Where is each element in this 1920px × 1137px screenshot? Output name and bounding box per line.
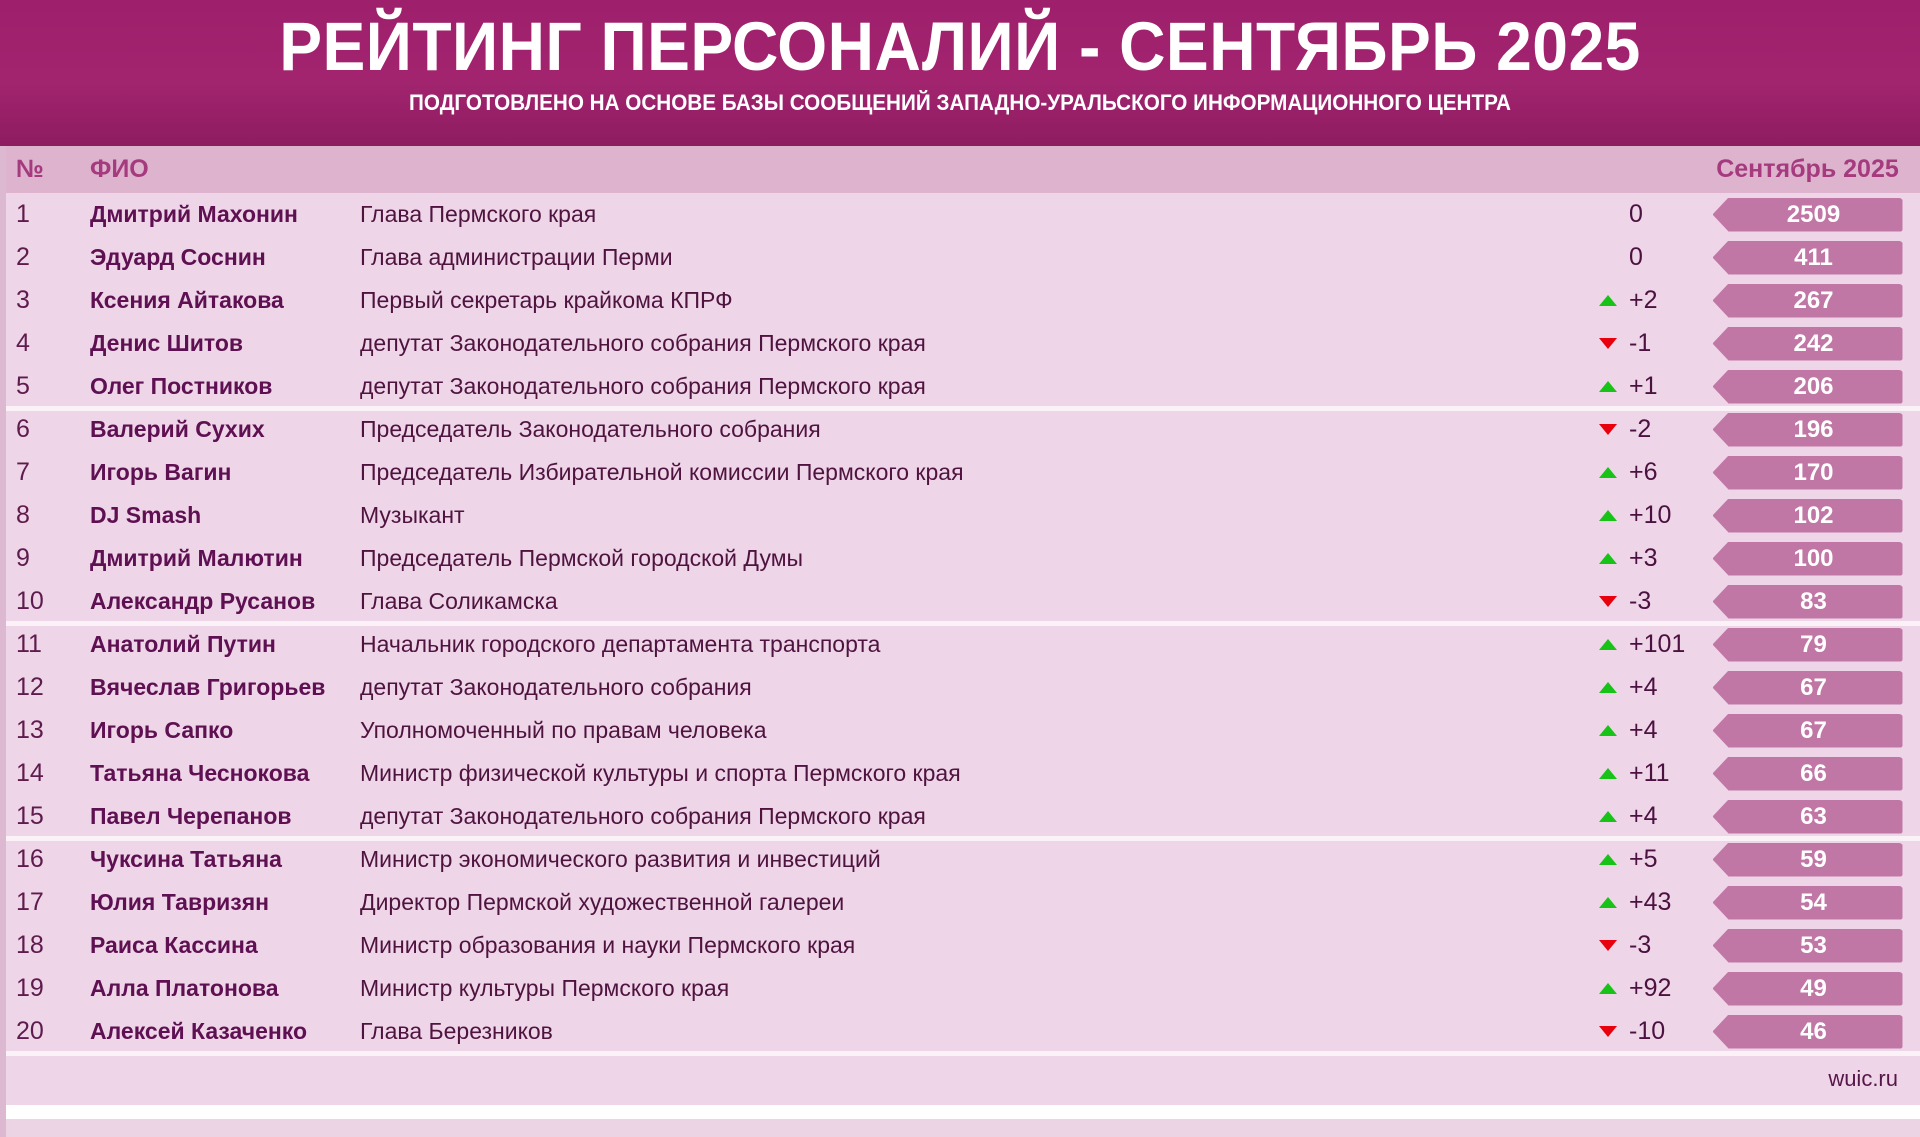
table-row: 1Дмитрий МахонинГлава Пермского края0250… [0, 193, 1920, 236]
row-change: -10 [1515, 1017, 1705, 1046]
row-change: +4 [1515, 673, 1705, 702]
row-position: Директор Пермской художественной галереи [360, 889, 1515, 916]
row-change-value: +6 [1629, 458, 1687, 487]
table-row: 6Валерий СухихПредседатель Законодательн… [0, 408, 1920, 451]
arrow-up-icon [1599, 295, 1617, 306]
row-change-value: +101 [1629, 630, 1687, 659]
table-row: 11Анатолий ПутинНачальник городского деп… [0, 623, 1920, 666]
row-rank: 4 [0, 329, 90, 358]
score-badge: 196 [1713, 413, 1903, 447]
arrow-up-icon [1599, 983, 1617, 994]
table-row: 3Ксения АйтаковаПервый секретарь крайком… [0, 279, 1920, 322]
row-position: депутат Законодательного собрания [360, 674, 1515, 701]
table-row: 15Павел Черепановдепутат Законодательног… [0, 795, 1920, 838]
row-position: Начальник городского департамента трансп… [360, 631, 1515, 658]
row-rank: 12 [0, 673, 90, 702]
row-person-name: Алла Платонова [90, 975, 360, 1002]
row-position: Первый секретарь крайкома КПРФ [360, 287, 1515, 314]
row-change-value: 0 [1629, 200, 1687, 229]
row-change: +10 [1515, 501, 1705, 530]
row-score-cell: 53 [1705, 929, 1920, 963]
row-score-cell: 59 [1705, 843, 1920, 877]
arrow-up-icon [1599, 854, 1617, 865]
row-score-cell: 411 [1705, 241, 1920, 275]
row-change-value: -2 [1629, 415, 1687, 444]
arrow-down-icon [1599, 596, 1617, 607]
score-badge: 411 [1713, 241, 1903, 275]
row-rank: 20 [0, 1017, 90, 1046]
row-score-cell: 267 [1705, 284, 1920, 318]
arrow-down-icon [1599, 424, 1617, 435]
row-change: +6 [1515, 458, 1705, 487]
row-change: +43 [1515, 888, 1705, 917]
table-row: 10Александр РусановГлава Соликамска-383 [0, 580, 1920, 623]
table-row: 17Юлия ТавризянДиректор Пермской художес… [0, 881, 1920, 924]
bottom-strip [0, 1105, 1920, 1119]
row-change-value: +11 [1629, 759, 1687, 788]
table-row: 7Игорь ВагинПредседатель Избирательной к… [0, 451, 1920, 494]
row-change: -2 [1515, 415, 1705, 444]
row-person-name: DJ Smash [90, 502, 360, 529]
row-score-cell: 170 [1705, 456, 1920, 490]
score-badge: 242 [1713, 327, 1903, 361]
row-person-name: Юлия Тавризян [90, 889, 360, 916]
table-row: 13Игорь СапкоУполномоченный по правам че… [0, 709, 1920, 752]
row-person-name: Валерий Сухих [90, 416, 360, 443]
row-person-name: Эдуард Соснин [90, 244, 360, 271]
row-change-value: +3 [1629, 544, 1687, 573]
row-change-value: 0 [1629, 243, 1687, 272]
table-row: 14Татьяна ЧесноковаМинистр физической ку… [0, 752, 1920, 795]
row-position: Председатель Избирательной комиссии Перм… [360, 459, 1515, 486]
row-score-cell: 67 [1705, 714, 1920, 748]
score-badge: 79 [1713, 628, 1903, 662]
row-position: Глава Пермского края [360, 201, 1515, 228]
row-change: +101 [1515, 630, 1705, 659]
score-badge: 46 [1713, 1015, 1903, 1049]
score-badge: 66 [1713, 757, 1903, 791]
row-rank: 11 [0, 630, 90, 659]
row-person-name: Александр Русанов [90, 588, 360, 615]
arrow-up-icon [1599, 381, 1617, 392]
arrow-down-icon [1599, 1026, 1617, 1037]
row-position: Глава Березников [360, 1018, 1515, 1045]
row-person-name: Анатолий Путин [90, 631, 360, 658]
row-position: Председатель Законодательного собрания [360, 416, 1515, 443]
row-change-value: -3 [1629, 931, 1687, 960]
table-row: 16Чуксина ТатьянаМинистр экономического … [0, 838, 1920, 881]
row-score-cell: 100 [1705, 542, 1920, 576]
table-row: 4Денис Шитовдепутат Законодательного соб… [0, 322, 1920, 365]
row-change-value: +92 [1629, 974, 1687, 1003]
row-person-name: Вячеслав Григорьев [90, 674, 360, 701]
row-rank: 15 [0, 802, 90, 831]
row-person-name: Алексей Казаченко [90, 1018, 360, 1045]
row-score-cell: 54 [1705, 886, 1920, 920]
row-change-value: +1 [1629, 372, 1687, 401]
row-score-cell: 49 [1705, 972, 1920, 1006]
left-edge-accent [0, 146, 6, 1137]
row-change: +4 [1515, 716, 1705, 745]
table-body: 1Дмитрий МахонинГлава Пермского края0250… [0, 193, 1920, 1053]
row-position: Министр образования и науки Пермского кр… [360, 932, 1515, 959]
header-banner: РЕЙТИНГ ПЕРСОНАЛИЙ - СЕНТЯБРЬ 2025 ПОДГО… [0, 0, 1920, 146]
row-score-cell: 102 [1705, 499, 1920, 533]
row-change: 0 [1515, 243, 1705, 272]
row-rank: 8 [0, 501, 90, 530]
arrow-up-icon [1599, 510, 1617, 521]
row-position: депутат Законодательного собрания Пермск… [360, 803, 1515, 830]
row-change-value: +2 [1629, 286, 1687, 315]
score-badge: 59 [1713, 843, 1903, 877]
row-rank: 14 [0, 759, 90, 788]
row-person-name: Дмитрий Махонин [90, 201, 360, 228]
table-row: 12Вячеслав Григорьевдепутат Законодатель… [0, 666, 1920, 709]
row-change-value: +5 [1629, 845, 1687, 874]
row-score-cell: 2509 [1705, 198, 1920, 232]
row-position: депутат Законодательного собрания Пермск… [360, 373, 1515, 400]
score-badge: 53 [1713, 929, 1903, 963]
table-row: 19Алла ПлатоноваМинистр культуры Пермско… [0, 967, 1920, 1010]
row-change: +92 [1515, 974, 1705, 1003]
table-row: 5Олег Постниковдепутат Законодательного … [0, 365, 1920, 408]
arrow-up-icon [1599, 725, 1617, 736]
row-person-name: Павел Черепанов [90, 803, 360, 830]
row-score-cell: 206 [1705, 370, 1920, 404]
row-change: -1 [1515, 329, 1705, 358]
score-badge: 100 [1713, 542, 1903, 576]
arrow-up-icon [1599, 467, 1617, 478]
row-rank: 1 [0, 200, 90, 229]
row-position: Министр экономического развития и инвест… [360, 846, 1515, 873]
row-change: +5 [1515, 845, 1705, 874]
row-rank: 17 [0, 888, 90, 917]
score-badge: 54 [1713, 886, 1903, 920]
row-rank: 2 [0, 243, 90, 272]
column-header-num: № [0, 155, 90, 184]
score-badge: 267 [1713, 284, 1903, 318]
row-position: Музыкант [360, 502, 1515, 529]
row-position: Министр физической культуры и спорта Пер… [360, 760, 1515, 787]
arrow-up-icon [1599, 639, 1617, 650]
row-person-name: Денис Шитов [90, 330, 360, 357]
row-person-name: Олег Постников [90, 373, 360, 400]
row-score-cell: 66 [1705, 757, 1920, 791]
row-rank: 18 [0, 931, 90, 960]
page-subtitle: ПОДГОТОВЛЕНО НА ОСНОВЕ БАЗЫ СООБЩЕНИЙ ЗА… [58, 90, 1863, 116]
row-change-value: +4 [1629, 673, 1687, 702]
table-row: 2Эдуард СоснинГлава администрации Перми0… [0, 236, 1920, 279]
row-rank: 3 [0, 286, 90, 315]
table-row: 20Алексей КазаченкоГлава Березников-1046 [0, 1010, 1920, 1053]
row-change: 0 [1515, 200, 1705, 229]
row-change: +11 [1515, 759, 1705, 788]
score-badge: 2509 [1713, 198, 1903, 232]
row-change-value: +4 [1629, 802, 1687, 831]
row-person-name: Чуксина Татьяна [90, 846, 360, 873]
arrow-down-icon [1599, 940, 1617, 951]
row-score-cell: 83 [1705, 585, 1920, 619]
row-change-value: -10 [1629, 1017, 1687, 1046]
row-score-cell: 79 [1705, 628, 1920, 662]
arrow-up-icon [1599, 897, 1617, 908]
row-change: +2 [1515, 286, 1705, 315]
row-change-value: +4 [1629, 716, 1687, 745]
row-rank: 7 [0, 458, 90, 487]
arrow-up-icon [1599, 553, 1617, 564]
score-badge: 67 [1713, 671, 1903, 705]
no-change-icon [1599, 209, 1617, 220]
score-badge: 49 [1713, 972, 1903, 1006]
score-badge: 67 [1713, 714, 1903, 748]
row-change-value: -1 [1629, 329, 1687, 358]
page-title: РЕЙТИНГ ПЕРСОНАЛИЙ - СЕНТЯБРЬ 2025 [67, 6, 1853, 88]
row-score-cell: 196 [1705, 413, 1920, 447]
row-person-name: Раиса Кассина [90, 932, 360, 959]
table-column-header: № ФИО Сентябрь 2025 [0, 146, 1920, 193]
footer-site-label: wuic.ru [1828, 1066, 1898, 1092]
table-row: 8DJ SmashМузыкант+10102 [0, 494, 1920, 537]
row-position: Председатель Пермской городской Думы [360, 545, 1515, 572]
arrow-up-icon [1599, 682, 1617, 693]
row-position: депутат Законодательного собрания Пермск… [360, 330, 1515, 357]
row-change-value: -3 [1629, 587, 1687, 616]
row-change: -3 [1515, 931, 1705, 960]
row-rank: 16 [0, 845, 90, 874]
row-rank: 13 [0, 716, 90, 745]
score-badge: 206 [1713, 370, 1903, 404]
row-score-cell: 46 [1705, 1015, 1920, 1049]
column-header-value: Сентябрь 2025 [1705, 155, 1920, 184]
row-rank: 9 [0, 544, 90, 573]
row-rank: 6 [0, 415, 90, 444]
arrow-up-icon [1599, 768, 1617, 779]
table-row: 18Раиса КассинаМинистр образования и нау… [0, 924, 1920, 967]
row-rank: 5 [0, 372, 90, 401]
rating-infographic: РЕЙТИНГ ПЕРСОНАЛИЙ - СЕНТЯБРЬ 2025 ПОДГО… [0, 0, 1920, 1137]
score-badge: 102 [1713, 499, 1903, 533]
score-badge: 83 [1713, 585, 1903, 619]
row-position: Министр культуры Пермского края [360, 975, 1515, 1002]
row-change: +1 [1515, 372, 1705, 401]
row-change: +3 [1515, 544, 1705, 573]
row-position: Глава Соликамска [360, 588, 1515, 615]
row-person-name: Игорь Вагин [90, 459, 360, 486]
no-change-icon [1599, 252, 1617, 263]
row-rank: 19 [0, 974, 90, 1003]
arrow-up-icon [1599, 811, 1617, 822]
arrow-down-icon [1599, 338, 1617, 349]
row-position: Глава администрации Перми [360, 244, 1515, 271]
row-person-name: Дмитрий Малютин [90, 545, 360, 572]
row-change-value: +43 [1629, 888, 1687, 917]
row-person-name: Ксения Айтакова [90, 287, 360, 314]
row-rank: 10 [0, 587, 90, 616]
table-row: 9Дмитрий МалютинПредседатель Пермской го… [0, 537, 1920, 580]
score-badge: 63 [1713, 800, 1903, 834]
score-badge: 170 [1713, 456, 1903, 490]
row-score-cell: 242 [1705, 327, 1920, 361]
row-score-cell: 67 [1705, 671, 1920, 705]
row-change-value: +10 [1629, 501, 1687, 530]
footer: wuic.ru [0, 1053, 1920, 1105]
row-score-cell: 63 [1705, 800, 1920, 834]
row-person-name: Игорь Сапко [90, 717, 360, 744]
row-person-name: Татьяна Чеснокова [90, 760, 360, 787]
row-change: +4 [1515, 802, 1705, 831]
column-header-fio: ФИО [90, 155, 360, 184]
row-change: -3 [1515, 587, 1705, 616]
row-position: Уполномоченный по правам человека [360, 717, 1515, 744]
